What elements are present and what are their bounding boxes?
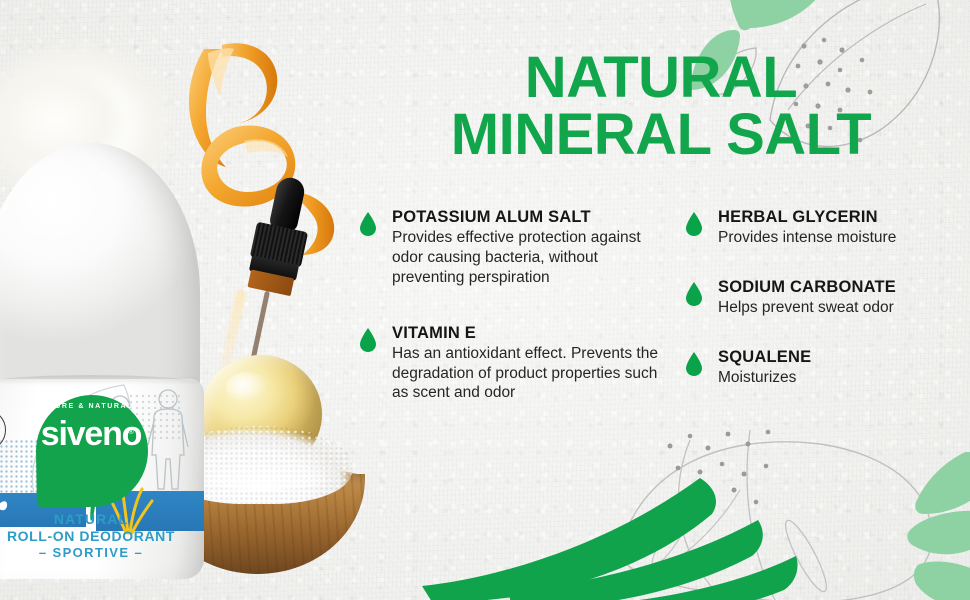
grass-blades-decoration: [420, 458, 740, 600]
leaf-outline-decoration-bottom: [600, 430, 970, 600]
feature-title: VITAMIN E: [392, 324, 668, 342]
feature-item: SODIUM CARBONATE Helps prevent sweat odo…: [678, 278, 970, 318]
spacer: [678, 248, 970, 278]
feature-item: SQUALENE Moisturizes: [678, 348, 970, 388]
product-feature-banner: BIO COSMOS NATURAL: [0, 0, 970, 600]
spacer: [678, 318, 970, 348]
feature-item: HERBAL GLYCERIN Provides intense moistur…: [678, 208, 970, 248]
page-title: NATURAL MINERAL SALT: [352, 50, 970, 164]
label-product-description: NATURAL ROLL-ON DEODORANT – SPORTIVE –: [0, 511, 204, 561]
feature-title: SQUALENE: [718, 348, 970, 366]
feature-body: Provides effective protection against od…: [392, 228, 668, 287]
features-right-column: HERBAL GLYCERIN Provides intense moistur…: [678, 208, 970, 388]
feature-title: POTASSIUM ALUM SALT: [392, 208, 668, 226]
grass-blade-secondary: [508, 520, 768, 600]
dot-cluster-bottom: [660, 420, 800, 530]
feature-item: POTASSIUM ALUM SALT Provides effective p…: [352, 208, 668, 288]
feature-title: SODIUM CARBONATE: [718, 278, 970, 296]
water-drop-icon: [359, 328, 377, 352]
label-line-1: NATURAL: [0, 511, 204, 528]
feature-body: Helps prevent sweat odor: [718, 298, 970, 318]
spacer: [352, 288, 668, 324]
brand-name: siveno: [0, 417, 204, 451]
grass-blade-tertiary: [600, 556, 800, 600]
label-line-2: ROLL-ON DEODORANT: [0, 528, 204, 545]
product-photo-composition: BIO COSMOS NATURAL: [0, 0, 360, 600]
salt-highlight: [186, 460, 336, 490]
title-line-1: NATURAL: [352, 50, 970, 107]
features-left-column: POTASSIUM ALUM SALT Provides effective p…: [352, 208, 668, 403]
feature-body: Provides intense moisture: [718, 228, 970, 248]
feature-body: Moisturizes: [718, 368, 970, 388]
roll-on-deodorant-bottle: BIO COSMOS NATURAL: [0, 143, 200, 578]
water-drop-icon: [685, 282, 703, 306]
label-tagline: PURE & NATURAL: [0, 403, 204, 410]
label-line-3: – SPORTIVE –: [0, 545, 204, 561]
water-drop-icon: [359, 212, 377, 236]
water-drop-icon: [685, 212, 703, 236]
water-drop-icon: [685, 352, 703, 376]
product-label: BIO COSMOS NATURAL: [0, 383, 204, 579]
feature-item: VITAMIN E Has an antioxidant effect. Pre…: [352, 324, 668, 404]
deodorant-cap: [0, 143, 200, 403]
trademark-symbol: ®: [128, 427, 134, 436]
leaf-decoration-bottom-right: [886, 452, 970, 600]
title-line-2: MINERAL SALT: [352, 107, 970, 164]
feature-body: Has an antioxidant effect. Prevents the …: [392, 344, 668, 403]
feature-title: HERBAL GLYCERIN: [718, 208, 970, 226]
capsule-highlight: [226, 372, 268, 402]
